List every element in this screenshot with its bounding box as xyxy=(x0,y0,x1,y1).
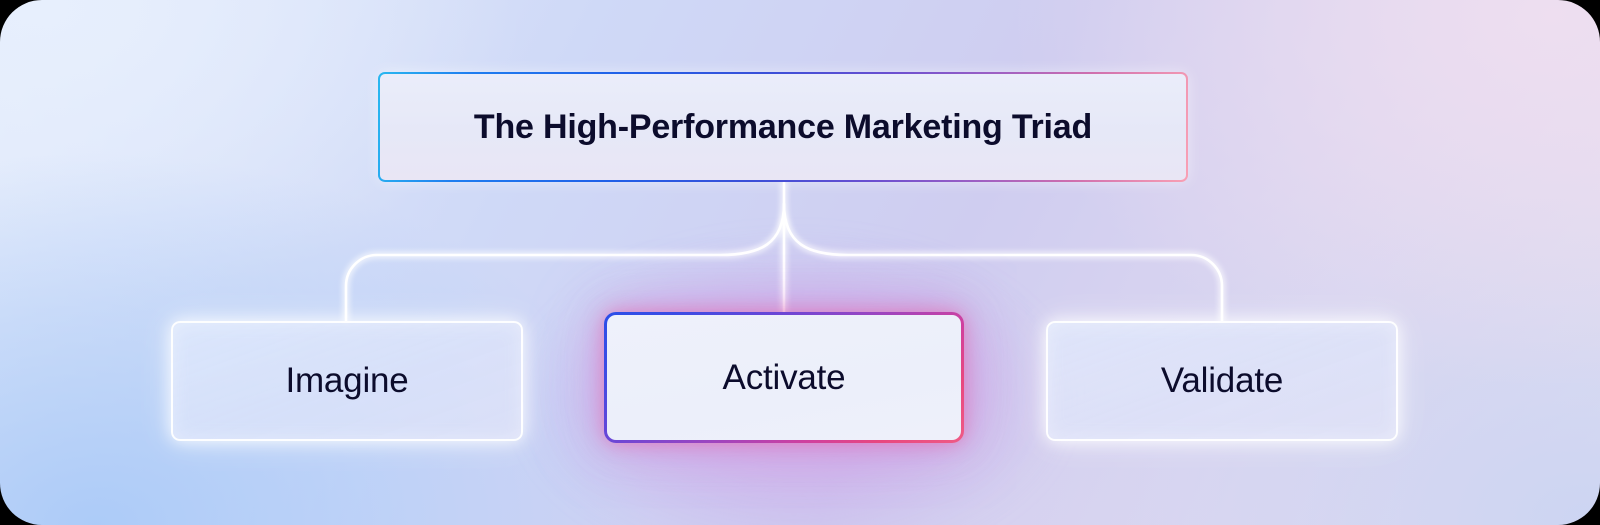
node-root-title[interactable]: The High-Performance Marketing Triad xyxy=(378,72,1188,182)
edge-root-to-validate xyxy=(784,204,1222,321)
node-imagine-label: Imagine xyxy=(285,361,408,401)
node-validate-label: Validate xyxy=(1161,361,1283,401)
node-activate[interactable]: Activate xyxy=(604,312,964,443)
node-imagine[interactable]: Imagine xyxy=(171,321,523,441)
node-validate[interactable]: Validate xyxy=(1046,321,1398,441)
node-root-label: The High-Performance Marketing Triad xyxy=(474,108,1092,147)
diagram-canvas: The High-Performance Marketing Triad Ima… xyxy=(0,0,1600,525)
node-activate-label: Activate xyxy=(723,358,846,398)
edge-root-to-imagine xyxy=(346,204,784,321)
